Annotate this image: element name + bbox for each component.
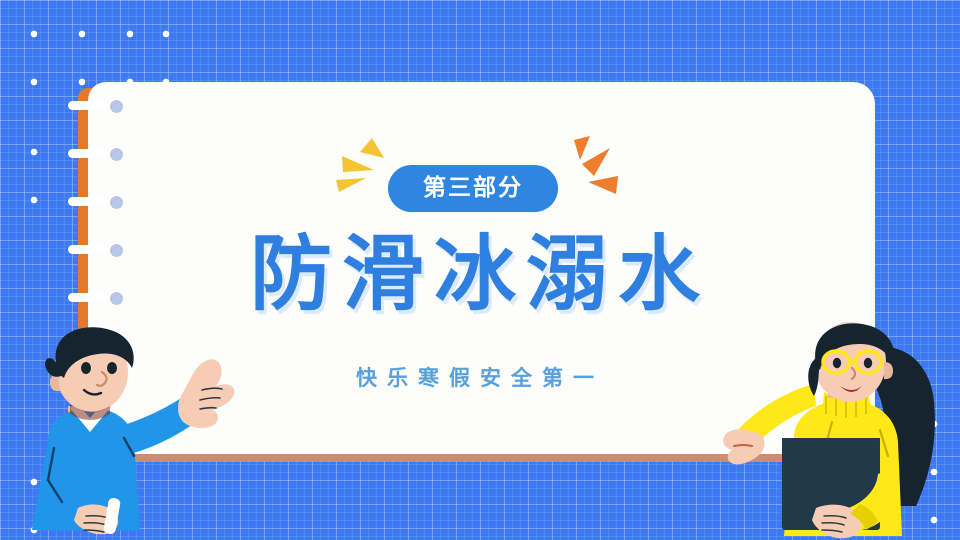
binder-ring-eye bbox=[108, 98, 125, 115]
binder-ring-2 bbox=[68, 146, 126, 161]
sparkle-rays-right bbox=[560, 132, 636, 210]
slide-canvas: 第三部分 防滑冰溺水 快乐寒假安全第一 bbox=[0, 0, 960, 540]
binder-ring-eye bbox=[108, 194, 125, 211]
binder-ring-eye bbox=[108, 146, 125, 163]
page-title: 防滑冰溺水 bbox=[0, 232, 960, 318]
section-badge[interactable]: 第三部分 bbox=[388, 165, 558, 212]
sparkle-rays-left bbox=[326, 136, 398, 214]
binder-ring-1 bbox=[68, 98, 126, 113]
binder-ring-3 bbox=[68, 194, 126, 209]
boy-student-illustration bbox=[6, 320, 246, 540]
girl-student-illustration bbox=[720, 318, 960, 540]
section-badge-label: 第三部分 bbox=[423, 176, 523, 199]
